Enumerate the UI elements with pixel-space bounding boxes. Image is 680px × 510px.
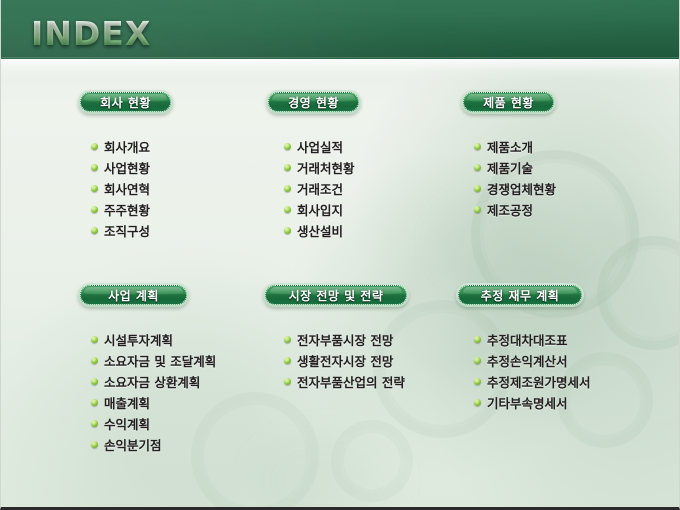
group-company-status: 회사 현황 회사개요 사업현황 회사연혁 주주현황 조직구성 [78, 90, 238, 241]
bullet-icon [284, 164, 291, 171]
list-item[interactable]: 시설투자계획 [91, 329, 268, 350]
group-heading-button[interactable]: 추정 재무 계획 [456, 283, 584, 307]
list-item-label: 거래처현황 [297, 158, 355, 177]
list-item-label: 추정손익계산서 [487, 351, 568, 370]
background-blob [251, 430, 401, 510]
bullet-icon [91, 227, 98, 234]
list-item-label: 수익계획 [104, 414, 150, 433]
list-item-label: 주주현황 [104, 200, 150, 219]
list-item-label: 손익분기점 [104, 435, 162, 454]
list-item[interactable]: 사업현황 [91, 157, 238, 178]
list-item[interactable]: 경쟁업체현황 [474, 178, 641, 199]
list-item-label: 사업현황 [104, 158, 150, 177]
list-item[interactable]: 추정대차대조표 [474, 329, 656, 350]
list-item[interactable]: 매출계획 [91, 392, 268, 413]
group-heading-label: 제품 현황 [483, 94, 534, 111]
group-heading-label: 회사 현황 [100, 94, 151, 111]
bullet-icon [474, 357, 481, 364]
bullet-icon [284, 143, 291, 150]
list-item-label: 추정제조원가명세서 [487, 372, 591, 391]
list-item-label: 생산설비 [297, 221, 343, 240]
group-heading-label: 추정 재무 계획 [481, 287, 560, 304]
list-item[interactable]: 회사입지 [284, 199, 436, 220]
group-heading-label: 사업 계획 [108, 287, 159, 304]
group-heading-button[interactable]: 회사 현황 [78, 90, 173, 114]
list-item-label: 추정대차대조표 [487, 330, 568, 349]
list-item-label: 소요자금 및 조달계획 [104, 351, 216, 370]
list-item[interactable]: 거래처현황 [284, 157, 436, 178]
bullet-icon [474, 206, 481, 213]
bullet-icon [284, 378, 291, 385]
list-item-label: 매출계획 [104, 393, 150, 412]
list-item[interactable]: 소요자금 및 조달계획 [91, 350, 268, 371]
bullet-icon [284, 185, 291, 192]
list-item-label: 생활전자시장 전망 [297, 351, 393, 370]
bullet-icon [91, 164, 98, 171]
bullet-icon [474, 143, 481, 150]
bullet-icon [91, 336, 98, 343]
list-item[interactable]: 전자부품시장 전망 [284, 329, 453, 350]
list-item[interactable]: 추정손익계산서 [474, 350, 656, 371]
list-item[interactable]: 제품소개 [474, 136, 641, 157]
gear-icon [331, 420, 413, 502]
list-item[interactable]: 회사개요 [91, 136, 238, 157]
list-item-label: 사업실적 [297, 137, 343, 156]
list-item[interactable]: 기타부속명세서 [474, 392, 656, 413]
presentation-slide: INDEX 회사 현황 회사개요 사업현황 회사연혁 주주현황 조직구성 경영 … [0, 0, 680, 510]
list-item[interactable]: 제조공정 [474, 199, 641, 220]
list-item[interactable]: 거래조건 [284, 178, 436, 199]
list-item[interactable]: 주주현황 [91, 199, 238, 220]
group-heading-button[interactable]: 사업 계획 [78, 283, 189, 307]
group-heading-label: 경영 현황 [288, 94, 339, 111]
list-item-label: 경쟁업체현황 [487, 179, 556, 198]
group-item-list: 사업실적 거래처현황 거래조건 회사입지 생산설비 [284, 136, 436, 241]
group-heading-button[interactable]: 경영 현황 [266, 90, 361, 114]
list-item-label: 제품기술 [487, 158, 533, 177]
list-item-label: 회사개요 [104, 137, 150, 156]
list-item-label: 제조공정 [487, 200, 533, 219]
bullet-icon [474, 336, 481, 343]
group-item-list: 시설투자계획 소요자금 및 조달계획 소요자금 상환계획 매출계획 수익계획 손… [91, 329, 268, 455]
list-item[interactable]: 생활전자시장 전망 [284, 350, 453, 371]
group-market-outlook: 시장 전망 및 전략 전자부품시장 전망 생활전자시장 전망 전자부품산업의 전… [263, 283, 453, 392]
bullet-icon [91, 357, 98, 364]
group-financial-plan: 추정 재무 계획 추정대차대조표 추정손익계산서 추정제조원가명세서 기타부속명… [456, 283, 656, 413]
list-item[interactable]: 수익계획 [91, 413, 268, 434]
bullet-icon [91, 185, 98, 192]
list-item[interactable]: 사업실적 [284, 136, 436, 157]
bullet-icon [91, 143, 98, 150]
group-item-list: 추정대차대조표 추정손익계산서 추정제조원가명세서 기타부속명세서 [474, 329, 656, 413]
list-item-label: 조직구성 [104, 221, 150, 240]
list-item-label: 시설투자계획 [104, 330, 173, 349]
list-item-label: 소요자금 상환계획 [104, 372, 200, 391]
bullet-icon [91, 378, 98, 385]
group-heading-button[interactable]: 제품 현황 [461, 90, 556, 114]
bullet-icon [474, 185, 481, 192]
bullet-icon [284, 336, 291, 343]
list-item-label: 전자부품시장 전망 [297, 330, 393, 349]
group-heading-label: 시장 전망 및 전략 [289, 287, 384, 304]
list-item[interactable]: 추정제조원가명세서 [474, 371, 656, 392]
list-item-label: 제품소개 [487, 137, 533, 156]
list-item-label: 거래조건 [297, 179, 343, 198]
bullet-icon [474, 399, 481, 406]
list-item[interactable]: 회사연혁 [91, 178, 238, 199]
list-item[interactable]: 소요자금 상환계획 [91, 371, 268, 392]
bullet-icon [91, 441, 98, 448]
group-business-plan: 사업 계획 시설투자계획 소요자금 및 조달계획 소요자금 상환계획 매출계획 … [78, 283, 268, 455]
bullet-icon [91, 206, 98, 213]
list-item-label: 전자부품산업의 전략 [297, 372, 405, 391]
bullet-icon [474, 378, 481, 385]
list-item-label: 기타부속명세서 [487, 393, 568, 412]
group-heading-button[interactable]: 시장 전망 및 전략 [263, 283, 409, 307]
list-item[interactable]: 조직구성 [91, 220, 238, 241]
bullet-icon [474, 164, 481, 171]
list-item[interactable]: 제품기술 [474, 157, 641, 178]
page-title: INDEX [31, 14, 151, 53]
bullet-icon [284, 357, 291, 364]
group-item-list: 회사개요 사업현황 회사연혁 주주현황 조직구성 [91, 136, 238, 241]
bullet-icon [284, 227, 291, 234]
list-item-label: 회사연혁 [104, 179, 150, 198]
group-item-list: 제품소개 제품기술 경쟁업체현황 제조공정 [474, 136, 641, 220]
list-item[interactable]: 전자부품산업의 전략 [284, 371, 453, 392]
bullet-icon [284, 206, 291, 213]
header-highlight-strip [1, 59, 680, 81]
group-item-list: 전자부품시장 전망 생활전자시장 전망 전자부품산업의 전략 [284, 329, 453, 392]
list-item-label: 회사입지 [297, 200, 343, 219]
list-item[interactable]: 생산설비 [284, 220, 436, 241]
bullet-icon [91, 399, 98, 406]
group-product-status: 제품 현황 제품소개 제품기술 경쟁업체현황 제조공정 [461, 90, 641, 220]
group-management-status: 경영 현황 사업실적 거래처현황 거래조건 회사입지 생산설비 [266, 90, 436, 241]
list-item[interactable]: 손익분기점 [91, 434, 268, 455]
bullet-icon [91, 420, 98, 427]
